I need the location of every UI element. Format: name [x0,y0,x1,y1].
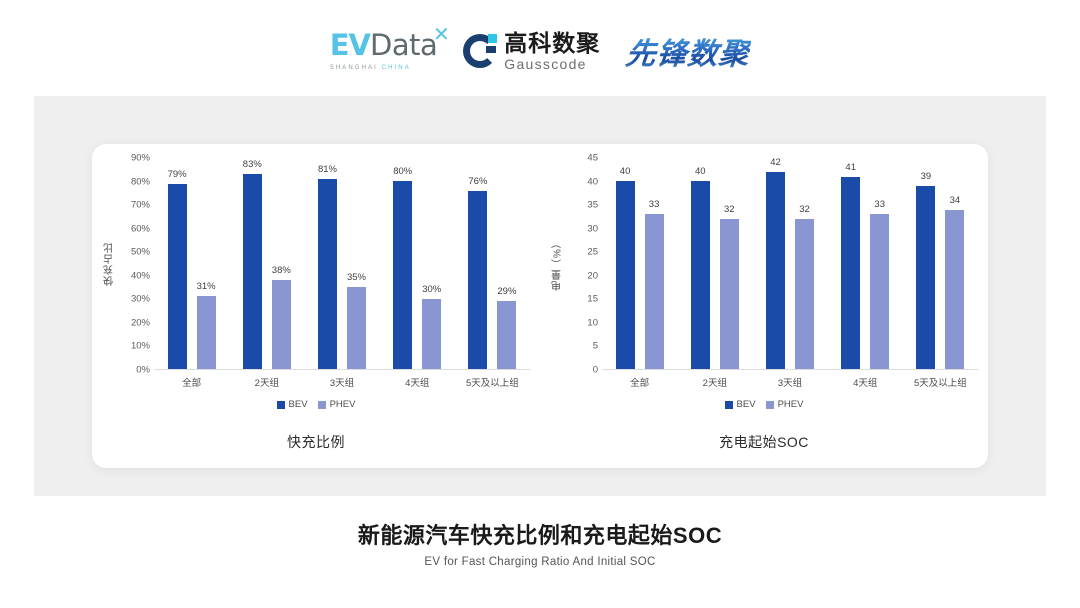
y-tick: 30 [587,223,598,234]
legend-swatch-phev-icon [766,401,774,409]
figure-caption: 新能源汽车快充比例和充电起始SOC EV for Fast Charging R… [0,518,1080,568]
y-tick: 35 [587,200,598,211]
bar-value-label: 39 [921,171,932,182]
x-mark-icon: ✕ [433,25,450,45]
gausscode-wordmark: 高科数聚 Gausscode [504,32,600,71]
chart-1-y-axis-label: 电量（%） [550,158,566,370]
x-tick: 3天组 [752,375,827,389]
charts-card: 快充占比 90% 80% 70% 60% 50% 40% 30% 20% 10%… [92,144,988,468]
evdata-country-text: CHINA [382,65,411,71]
chart-1-y-axis-ticks: 45 40 35 30 25 20 15 10 5 0 [566,158,602,370]
bar-group: 4232 [752,158,827,369]
chart-0-bars: 79%31%83%38%81%35%80%30%76%29% [154,158,530,370]
y-tick: 80% [131,176,150,187]
y-tick: 25 [587,247,598,258]
legend-label-bev: BEV [737,399,756,410]
bar-bev[interactable]: 39 [916,186,935,369]
bar-value-label: 41 [845,162,856,173]
x-tick: 3天组 [304,375,379,389]
bar-value-label: 33 [874,199,885,210]
bar-bev[interactable]: 83% [243,174,262,369]
chart-0-y-axis-label: 快充占比 [102,158,118,370]
legend-item-bev[interactable]: BEV [725,399,756,410]
x-tick: 5天及以上组 [903,375,978,389]
bar-bev[interactable]: 40 [691,181,710,369]
bar-value-label: 38% [272,265,291,276]
bar-group: 3934 [903,158,978,369]
logo-bar: EVData ✕ SHANGHAI CHINA 高科数聚 Gausscode 先… [0,0,1080,96]
chart-0-title: 快充比例 [102,432,530,452]
legend-swatch-phev-icon [318,401,326,409]
gausscode-mark-icon [463,34,497,68]
y-tick: 30% [131,294,150,305]
gausscode-en-text: Gausscode [504,57,600,71]
y-tick: 50% [131,247,150,258]
legend-label-phev: PHEV [330,399,356,410]
chart-1-title: 充电起始SOC [550,432,978,452]
gausscode-dot-shape [488,34,497,43]
bar-value-label: 34 [950,195,961,206]
chart-0-x-axis-ticks: 全部2天组3天组4天组5天及以上组 [154,375,530,389]
gausscode-cn-text: 高科数聚 [504,32,600,55]
bar-phev[interactable]: 33 [870,214,889,369]
y-tick: 70% [131,200,150,211]
bar-value-label: 35% [347,272,366,283]
bar-value-label: 79% [168,169,187,180]
chart-0-y-axis-ticks: 90% 80% 70% 60% 50% 40% 30% 20% 10% 0% [118,158,154,370]
bar-phev[interactable]: 30% [422,299,441,369]
bar-group: 81%35% [304,158,379,369]
caption-chinese: 新能源汽车快充比例和充电起始SOC [0,518,1080,550]
y-tick: 45 [587,153,598,164]
bar-value-label: 32 [724,204,735,215]
y-tick: 10 [587,317,598,328]
bar-phev[interactable]: 32 [795,219,814,369]
y-tick: 40 [587,176,598,187]
bar-phev[interactable]: 34 [945,210,964,369]
bar-phev[interactable]: 33 [645,214,664,369]
bar-value-label: 83% [243,159,262,170]
x-tick: 全部 [154,375,229,389]
bar-phev[interactable]: 35% [347,287,366,369]
legend-item-phev[interactable]: PHEV [766,399,804,410]
evdata-wordmark: EVData ✕ [330,31,438,60]
y-tick: 0% [136,365,150,376]
y-tick: 60% [131,223,150,234]
evdata-tagline: SHANGHAI CHINA [330,65,411,71]
chart-1-legend: BEV PHEV [550,399,978,410]
chart-fast-charging-ratio: 快充占比 90% 80% 70% 60% 50% 40% 30% 20% 10%… [92,144,540,468]
bar-group: 4033 [602,158,677,369]
chart-1-x-axis-ticks: 全部2天组3天组4天组5天及以上组 [602,375,978,389]
bar-group: 4133 [828,158,903,369]
gausscode-bar-shape [486,46,496,53]
bar-bev[interactable]: 80% [393,181,412,369]
x-tick: 2天组 [677,375,752,389]
bar-group: 79%31% [154,158,229,369]
bar-value-label: 76% [468,176,487,187]
y-tick: 0 [593,365,598,376]
bar-bev[interactable]: 81% [318,179,337,369]
bar-bev[interactable]: 40 [616,181,635,369]
bar-group: 83%38% [229,158,304,369]
y-tick: 40% [131,270,150,281]
chart-0-plot-area: 快充占比 90% 80% 70% 60% 50% 40% 30% 20% 10%… [102,158,530,370]
bar-bev[interactable]: 42 [766,172,785,369]
bar-group: 80%30% [380,158,455,369]
chart-1-bars: 40334032423241333934 [602,158,978,370]
evdata-logo: EVData ✕ SHANGHAI CHINA [330,31,438,71]
bar-value-label: 81% [318,164,337,175]
x-tick: 2天组 [229,375,304,389]
bar-value-label: 29% [497,286,516,297]
bar-value-label: 31% [197,281,216,292]
bar-value-label: 40 [620,166,631,177]
bar-value-label: 30% [422,284,441,295]
charts-panel: 快充占比 90% 80% 70% 60% 50% 40% 30% 20% 10%… [34,96,1046,496]
legend-swatch-bev-icon [277,401,285,409]
bar-bev[interactable]: 41 [841,177,860,369]
bar-value-label: 33 [649,199,660,210]
legend-swatch-bev-icon [725,401,733,409]
legend-item-phev[interactable]: PHEV [318,399,356,410]
bar-group: 4032 [677,158,752,369]
gausscode-logo: 高科数聚 Gausscode [463,32,600,71]
y-tick: 20 [587,270,598,281]
bar-phev[interactable]: 29% [497,301,516,369]
bar-value-label: 40 [695,166,706,177]
evdata-city-text: SHANGHAI [330,65,382,71]
x-tick: 全部 [602,375,677,389]
bar-value-label: 32 [799,204,810,215]
y-tick: 5 [593,341,598,352]
chart-1-plot-area: 电量（%） 45 40 35 30 25 20 15 10 5 0 403340… [550,158,978,370]
chart-0-bar-groups: 79%31%83%38%81%35%80%30%76%29% [154,158,530,369]
bar-group: 76%29% [455,158,530,369]
bar-bev[interactable]: 76% [468,191,487,369]
y-tick: 20% [131,317,150,328]
bar-phev[interactable]: 31% [197,296,216,369]
chart-initial-soc: 电量（%） 45 40 35 30 25 20 15 10 5 0 403340… [540,144,988,468]
legend-label-phev: PHEV [778,399,804,410]
evdata-ev-text: EV [330,31,370,60]
caption-english: EV for Fast Charging Ratio And Initial S… [0,556,1080,568]
bar-phev[interactable]: 38% [272,280,291,369]
bar-value-label: 42 [770,157,781,168]
legend-label-bev: BEV [289,399,308,410]
bar-phev[interactable]: 32 [720,219,739,369]
legend-item-bev[interactable]: BEV [277,399,308,410]
x-tick: 4天组 [380,375,455,389]
y-tick: 15 [587,294,598,305]
chart-1-bar-groups: 40334032423241333934 [602,158,978,369]
bar-bev[interactable]: 79% [168,184,187,369]
x-tick: 5天及以上组 [455,375,530,389]
x-tick: 4天组 [828,375,903,389]
xianfeng-logo: 先锋数聚 [624,29,753,73]
y-tick: 10% [131,341,150,352]
chart-0-legend: BEV PHEV [102,399,530,410]
y-tick: 90% [131,153,150,164]
evdata-data-text: Data [370,31,437,60]
bar-value-label: 80% [393,166,412,177]
